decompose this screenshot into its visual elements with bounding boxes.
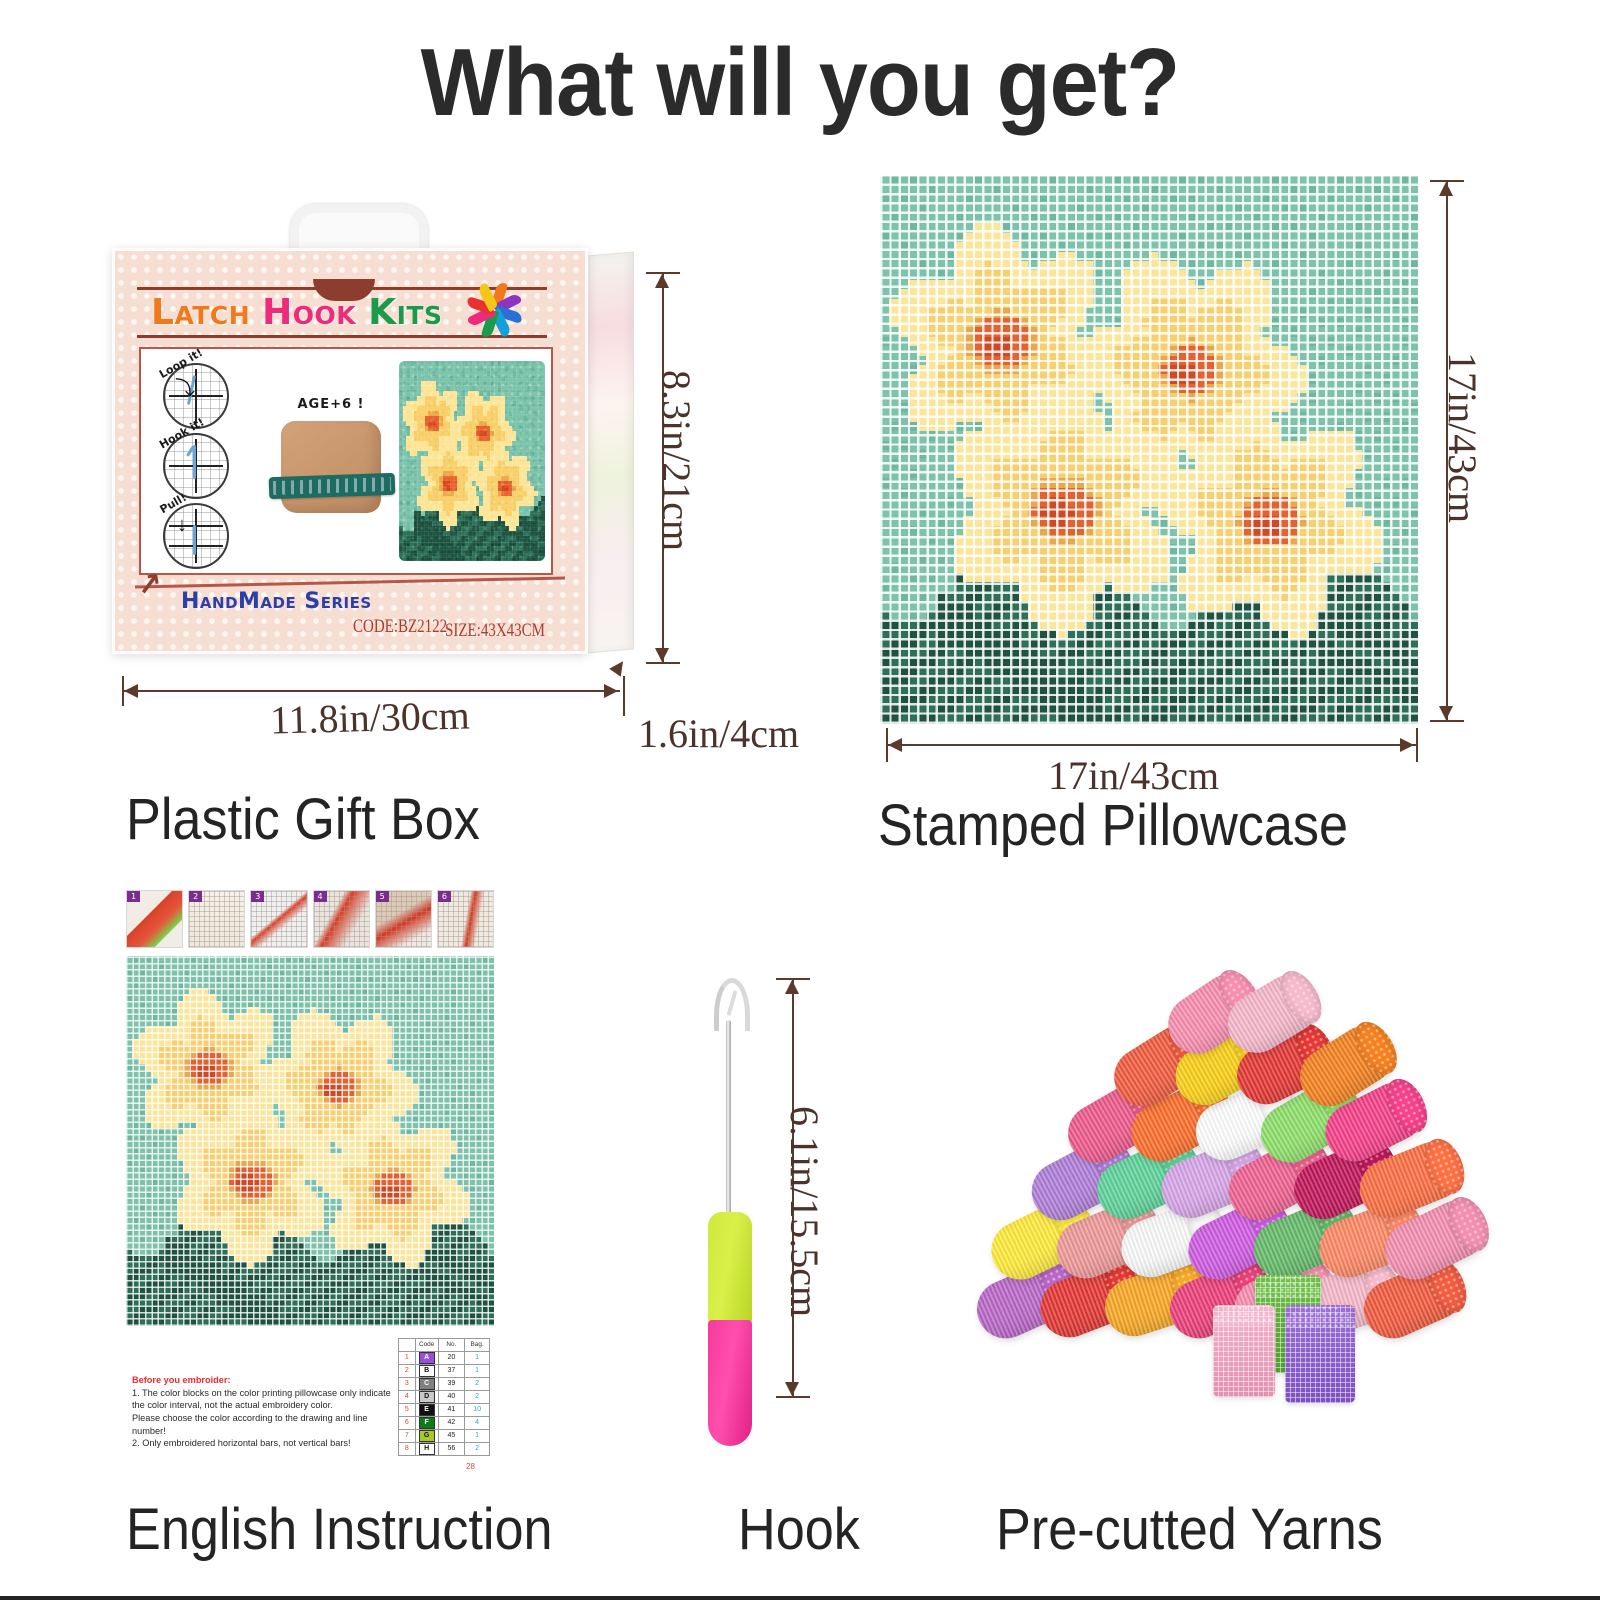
notice-line-1: 1. The color blocks on the color printin…	[132, 1388, 391, 1398]
row-bag: 1	[465, 1365, 490, 1378]
row-index: 8	[399, 1443, 416, 1456]
thumbnail-number: 6	[438, 891, 451, 902]
row-index: 3	[399, 1378, 416, 1391]
instruction-pattern-canvas	[126, 956, 494, 1326]
color-table-header	[399, 1339, 416, 1352]
gift-box-photo: Latch Hook Kits ⤵ Loop it!	[112, 248, 632, 658]
box-height-dim: 8.3in/21cm	[653, 370, 700, 551]
latch-hook-tool	[700, 960, 760, 1430]
bagged-yarn-bundle	[1285, 1305, 1355, 1403]
box-depth-arrow	[609, 657, 628, 676]
pillow-width-line	[886, 744, 1418, 746]
notice-title: Before you embroider:	[132, 1374, 394, 1387]
english-instruction-sheet: 123456 Before you embroider: 1. The colo…	[126, 890, 494, 1470]
row-code: D	[415, 1391, 438, 1404]
box-depth-dim: 1.6in/4cm	[638, 710, 799, 757]
table-row: 4D402	[399, 1391, 490, 1404]
box-bottom-rule	[135, 576, 565, 588]
row-index: 7	[399, 1430, 416, 1443]
box-height-arrow-up	[655, 274, 669, 288]
pre-cut-yarn-pile	[955, 975, 1475, 1425]
box-width-dim: 11.8in/30cm	[269, 691, 470, 743]
row-bag: 1	[465, 1430, 490, 1443]
row-code: E	[415, 1404, 438, 1417]
row-code: G	[415, 1430, 438, 1443]
row-bag: 2	[465, 1378, 490, 1391]
technique-thumbnail: 1	[126, 890, 183, 948]
table-row: 7G451	[399, 1430, 490, 1443]
finished-pillow-art	[399, 361, 545, 561]
pillow-height-dim: 17in/43cm	[1439, 352, 1486, 523]
brand-word-kits: Kits	[368, 292, 442, 333]
pillow-width-tick-right	[1416, 728, 1418, 762]
row-code: B	[415, 1365, 438, 1378]
brand-word-latch: Latch	[151, 292, 250, 333]
age-text: AGE+6 !	[271, 397, 391, 412]
color-table-header: Bag.	[465, 1339, 490, 1352]
bag-mesh	[1285, 1305, 1355, 1403]
table-row: 3C392	[399, 1378, 490, 1391]
color-code-table: CodeNo.Bag.1A2012B3713C3924D4025E41106F4…	[398, 1338, 490, 1456]
row-bag: 10	[465, 1404, 490, 1417]
color-table-total: 28	[466, 1462, 475, 1471]
step-circle-pull: ↓	[163, 503, 229, 569]
box-brand-title: Latch Hook Kits	[151, 289, 481, 335]
box-height-arrow-down	[655, 648, 669, 662]
hook-length-arrow-down	[785, 1382, 799, 1396]
row-bag: 1	[465, 1352, 490, 1365]
color-table-header: Code	[415, 1339, 438, 1352]
table-row: 1A201	[399, 1352, 490, 1365]
color-table-header: No.	[438, 1339, 465, 1352]
hook-handle-upper	[708, 1212, 752, 1324]
product-infographic: What will you get? Latch Hook Kits	[0, 0, 1600, 1600]
row-number: 20	[438, 1352, 465, 1365]
age-callout: AGE+6 !	[271, 397, 391, 412]
notice-line-3: Please choose the color according to the…	[132, 1413, 367, 1436]
hook-handle-lower	[708, 1320, 752, 1446]
row-number: 42	[438, 1417, 465, 1430]
row-number: 40	[438, 1391, 465, 1404]
thumbnail-number: 3	[251, 891, 264, 902]
row-number: 41	[438, 1404, 465, 1417]
hook-length-tick-bottom	[776, 1396, 810, 1398]
step-diagrams: ⤵ Loop it! Hook it!	[153, 359, 233, 564]
pillow-belly-band	[269, 473, 396, 499]
caption-hook: Hook	[738, 1496, 860, 1563]
technique-thumbnail-strip: 123456	[126, 890, 494, 950]
pinwheel-logo-icon	[463, 279, 525, 341]
brand-word-hook: Hook	[262, 292, 356, 333]
blank-pillow-photo	[281, 421, 381, 513]
pillow-width-arrow-left	[888, 738, 902, 752]
table-row: 6F424	[399, 1417, 490, 1430]
row-bag: 2	[465, 1391, 490, 1404]
technique-thumbnail: 6	[437, 890, 494, 948]
row-number: 56	[438, 1443, 465, 1456]
row-index: 4	[399, 1391, 416, 1404]
row-code: C	[415, 1378, 438, 1391]
table-row: 5E4110	[399, 1404, 490, 1417]
box-series-text: HandMade Series	[181, 589, 372, 614]
notice-line-2: the color interval, not the actual embro…	[132, 1400, 333, 1410]
caption-pillowcase: Stamped Pillowcase	[878, 792, 1348, 859]
row-code: A	[415, 1352, 438, 1365]
thumbnail-number: 5	[376, 891, 389, 902]
hook-length-dim: 6.1in/15.5cm	[781, 1106, 828, 1317]
hook-length-arrow-up	[785, 980, 799, 994]
caption-instruction: English Instruction	[126, 1496, 553, 1563]
bag-mesh	[1213, 1305, 1275, 1397]
pillow-height-arrow-down	[1439, 706, 1453, 720]
box-illustration-panel: ⤵ Loop it! Hook it!	[139, 347, 553, 575]
row-index: 1	[399, 1352, 416, 1365]
technique-thumbnail: 4	[313, 890, 370, 948]
box-width-line	[122, 690, 620, 692]
thumbnail-number: 1	[127, 891, 140, 902]
technique-thumbnail: 5	[375, 890, 432, 948]
page-title: What will you get?	[64, 28, 1536, 138]
bagged-yarn-bundle	[1213, 1305, 1275, 1397]
row-number: 39	[438, 1378, 465, 1391]
pillow-height-tick-bottom	[1430, 720, 1464, 722]
box-size-text: SIZE:43X43CM	[445, 621, 545, 642]
caption-gift-box: Plastic Gift Box	[126, 786, 480, 853]
table-row: 8H562	[399, 1443, 490, 1456]
box-front-panel: Latch Hook Kits ⤵ Loop it!	[112, 248, 588, 654]
notice-line-4: 2. Only embroidered horizontal bars, not…	[132, 1438, 351, 1448]
pattern-pixel-grid	[126, 956, 494, 1326]
box-width-arrow-right	[604, 684, 618, 698]
box-code-text: CODE:BZ2122	[353, 617, 447, 638]
row-index: 6	[399, 1417, 416, 1430]
before-you-embroider-notice: Before you embroider: 1. The color block…	[132, 1374, 394, 1450]
row-number: 37	[438, 1365, 465, 1378]
box-zigzag-icon: ↗	[135, 565, 173, 603]
stamped-pillowcase-canvas	[880, 176, 1418, 724]
row-code: F	[415, 1417, 438, 1430]
pattern-pixel-grid	[880, 176, 1418, 724]
technique-thumbnail: 2	[188, 890, 245, 948]
thumbnail-number: 2	[189, 891, 202, 902]
pillow-width-arrow-right	[1400, 738, 1414, 752]
hook-needle-shaft	[726, 1020, 731, 1220]
box-height-tick-bottom	[646, 662, 680, 664]
technique-thumbnail: 3	[250, 890, 307, 948]
row-index: 5	[399, 1404, 416, 1417]
row-code: H	[415, 1443, 438, 1456]
box-width-arrow-left	[124, 684, 138, 698]
box-depth-line	[623, 676, 625, 716]
thumbnail-number: 4	[314, 891, 327, 902]
row-number: 45	[438, 1430, 465, 1443]
row-bag: 4	[465, 1417, 490, 1430]
caption-yarns: Pre-cutted Yarns	[996, 1496, 1383, 1563]
table-row: 2B371	[399, 1365, 490, 1378]
pillow-height-arrow-up	[1439, 182, 1453, 196]
row-index: 2	[399, 1365, 416, 1378]
row-bag: 2	[465, 1443, 490, 1456]
